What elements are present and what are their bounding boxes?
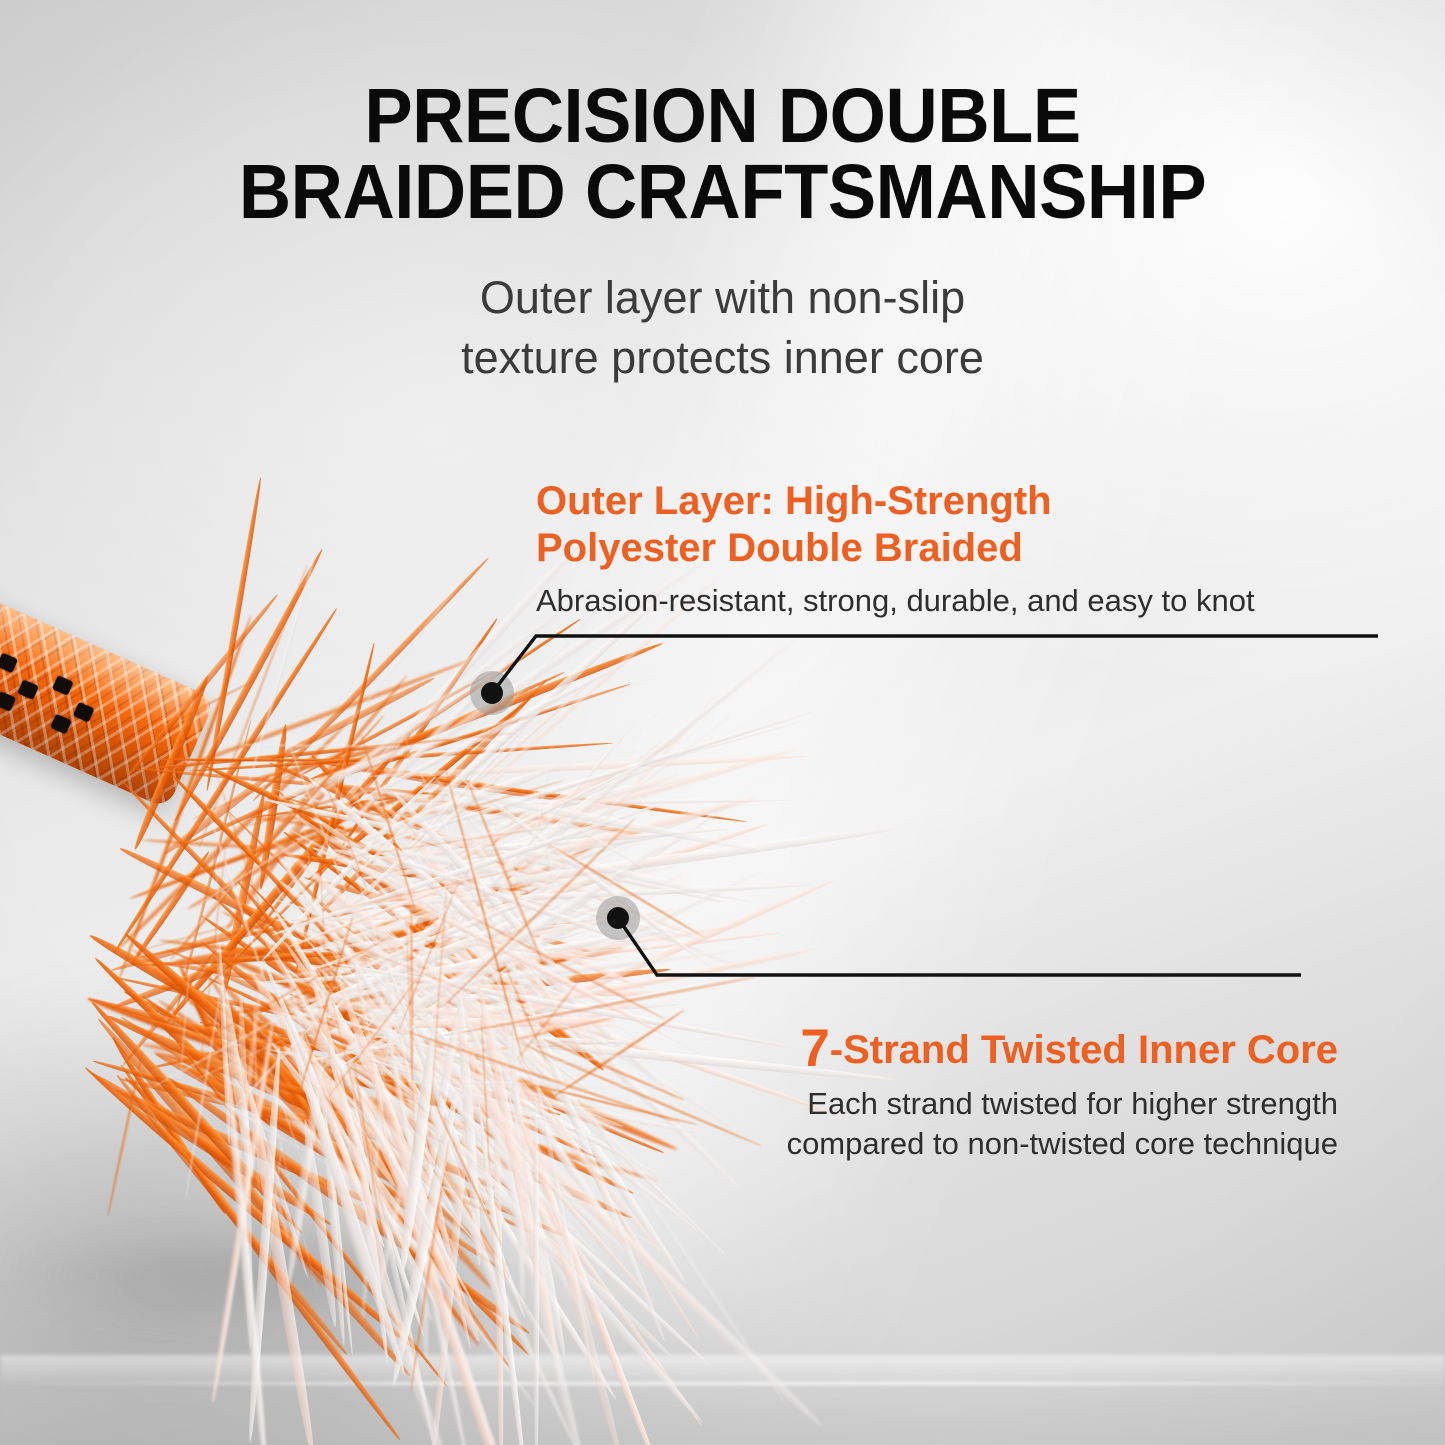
callout-2-heading-rest: -Strand Twisted Inner Core (830, 1028, 1338, 1072)
callout-1-heading-line-2: Polyester Double Braided (536, 525, 1255, 572)
callout-1-description-line-1: Abrasion-resistant, strong, durable, and… (536, 582, 1255, 621)
callout-1-description: Abrasion-resistant, strong, durable, and… (536, 582, 1255, 621)
callout-2-strand-count: 7 (800, 1019, 829, 1078)
page-title-line-2: BRAIDED CRAFTSMANSHIP (43, 154, 1401, 230)
page-subtitle-line-2: texture protects inner core (0, 328, 1445, 388)
callout-1-heading: Outer Layer: High-Strength Polyester Dou… (536, 478, 1255, 572)
infographic-canvas: PRECISION DOUBLE BRAIDED CRAFTSMANSHIP O… (0, 0, 1445, 1445)
page-subtitle-line-1: Outer layer with non-slip (0, 268, 1445, 328)
callout-2-heading: 7-Strand Twisted Inner Core (683, 1022, 1338, 1075)
page-subtitle: Outer layer with non-slip texture protec… (0, 268, 1445, 388)
callout-1-heading-line-1: Outer Layer: High-Strength (536, 478, 1255, 525)
callout-2-description-line-2: compared to non-twisted core technique (683, 1124, 1338, 1164)
page-title: PRECISION DOUBLE BRAIDED CRAFTSMANSHIP (43, 78, 1401, 230)
page-title-line-1: PRECISION DOUBLE (43, 78, 1401, 154)
callout-2-description: Each strand twisted for higher strength … (683, 1084, 1338, 1163)
leader-line-2 (618, 918, 1301, 975)
leader-line-1 (492, 636, 1378, 693)
callout-inner-core: 7-Strand Twisted Inner Core Each strand … (683, 1022, 1338, 1163)
callout-2-heading-line-1: 7-Strand Twisted Inner Core (683, 1022, 1338, 1075)
callout-2-description-line-1: Each strand twisted for higher strength (683, 1084, 1338, 1124)
callout-outer-layer: Outer Layer: High-Strength Polyester Dou… (536, 478, 1255, 620)
